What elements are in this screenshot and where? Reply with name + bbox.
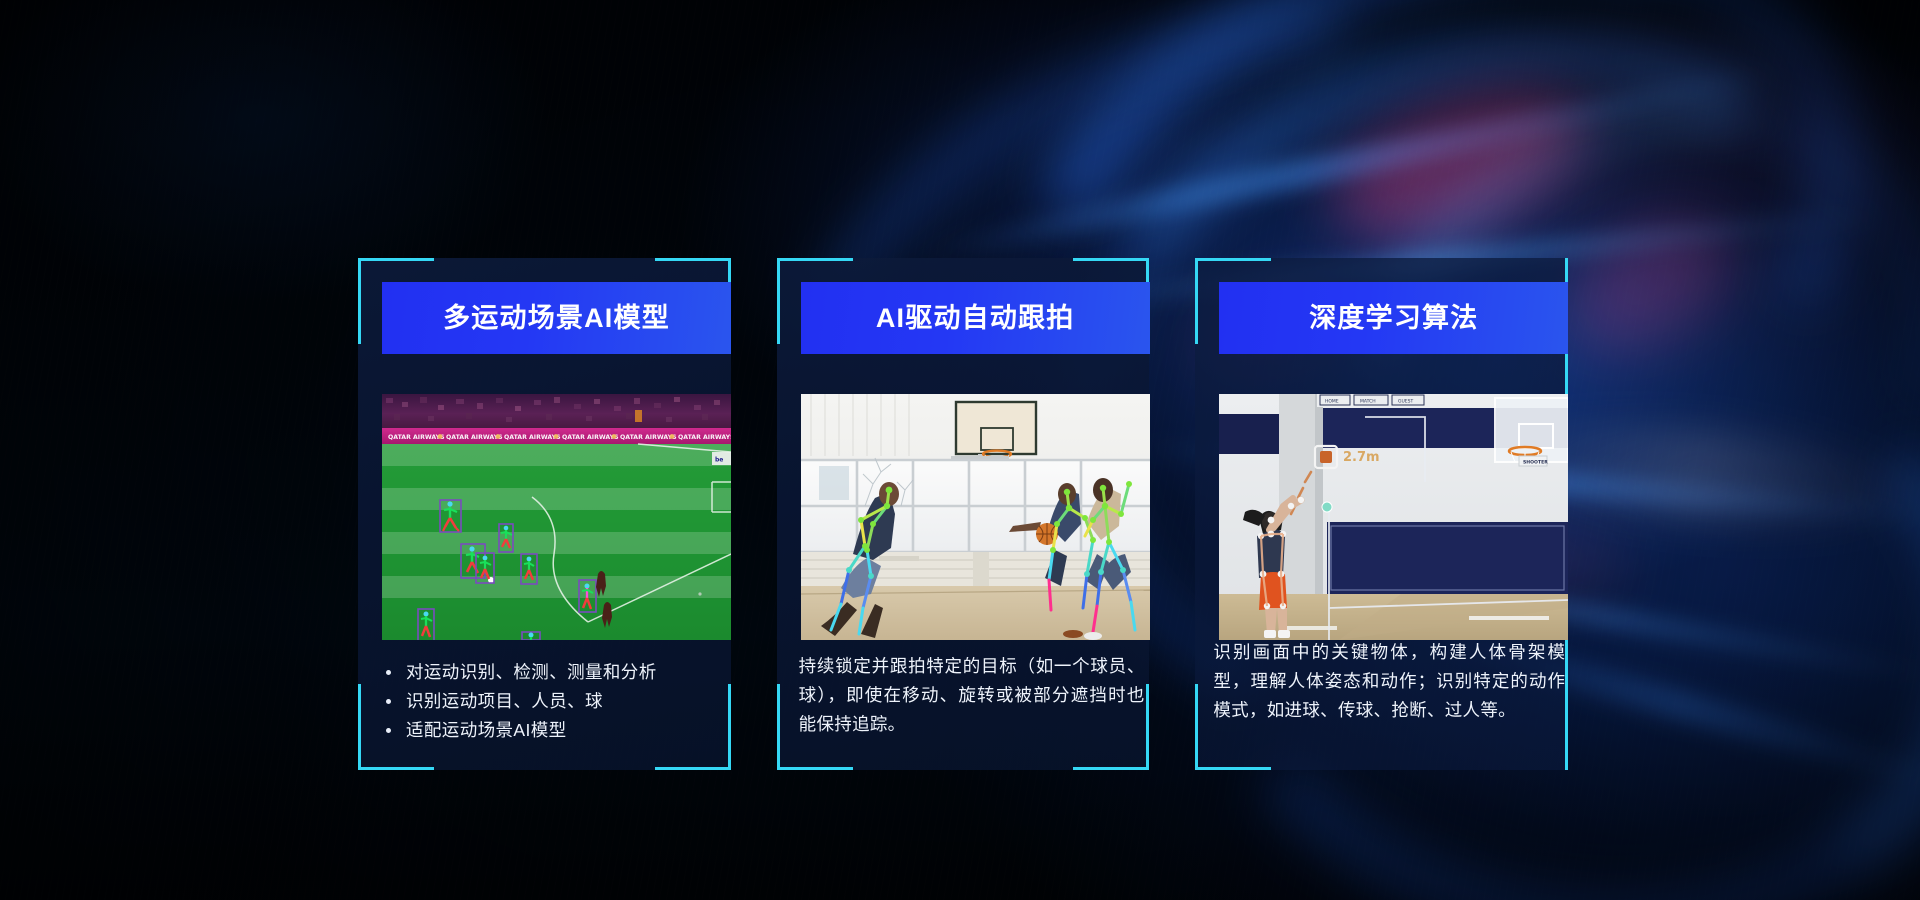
svg-text:SHOOTER: SHOOTER [1523,460,1548,466]
card-description: 识别画面中的关键物体，构建人体骨架模型，理解人体姿态和动作；识别特定的动作模式，… [1213,638,1565,725]
soccer-detection-image: QATAR AIRWAYS QATAR AIRWAYS QATAR AIRWAY… [382,394,731,640]
card-title: AI驱动自动跟拍 [876,305,1075,332]
svg-text:2.7m: 2.7m [1343,450,1380,465]
svg-text:QATAR AIRWAYS: QATAR AIRWAYS [678,434,731,441]
svg-text:GUEST: GUEST [1398,398,1413,404]
shot-tracking-image: HOMEMATCHGUEST SHOOTER [1219,394,1568,640]
svg-text:QATAR AIRWAYS: QATAR AIRWAYS [562,434,619,441]
svg-text:MATCH: MATCH [1360,398,1376,404]
svg-text:HOME: HOME [1325,398,1339,404]
basketball-pose-image [801,394,1150,640]
card-title-banner: 深度学习算法 [1219,282,1568,354]
feature-paragraph: 识别画面中的关键物体，构建人体骨架模型，理解人体姿态和动作；识别特定的动作模式，… [1213,638,1565,725]
feature-card-multi-sport-ai-model[interactable]: 多运动场景AI模型 [358,258,731,770]
feature-card-deep-learning-algorithm[interactable]: 深度学习算法 [1195,258,1568,770]
svg-text:QATAR AIRWAYS: QATAR AIRWAYS [504,434,561,441]
card-description: 持续锁定并跟拍特定的目标（如一个球员、球），即使在移动、旋转或被部分遮挡时也能保… [799,652,1145,739]
card-description: 对运动识别、检测、测量和分析 识别运动项目、人员、球 适配运动场景AI模型 [380,658,726,745]
list-item: 对运动识别、检测、测量和分析 [380,658,726,687]
svg-text:QATAR AIRWAYS: QATAR AIRWAYS [620,434,677,441]
list-item: 识别运动项目、人员、球 [380,687,726,716]
slide-canvas: 多运动场景AI模型 [0,0,1920,900]
feature-paragraph: 持续锁定并跟拍特定的目标（如一个球员、球），即使在移动、旋转或被部分遮挡时也能保… [799,652,1145,739]
feature-bullet-list: 对运动识别、检测、测量和分析 识别运动项目、人员、球 适配运动场景AI模型 [380,658,726,745]
card-title: 深度学习算法 [1309,305,1478,332]
card-title-banner: 多运动场景AI模型 [382,282,731,354]
list-item: 适配运动场景AI模型 [380,716,726,745]
svg-text:QATAR AIRWAYS: QATAR AIRWAYS [446,434,503,441]
feature-card-ai-auto-tracking[interactable]: AI驱动自动跟拍 [777,258,1150,770]
svg-text:be: be [715,457,723,464]
card-title-banner: AI驱动自动跟拍 [801,282,1150,354]
feature-card-row: 多运动场景AI模型 [358,258,1568,770]
card-title: 多运动场景AI模型 [443,305,670,332]
svg-text:QATAR AIRWAYS: QATAR AIRWAYS [388,434,445,441]
